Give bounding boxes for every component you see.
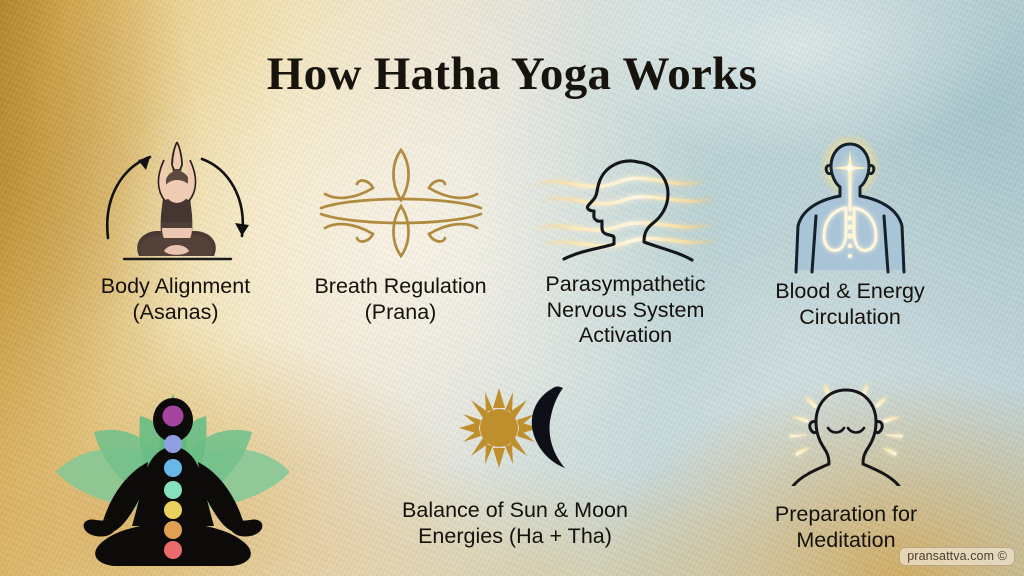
infographic-canvas: How Hatha Yoga Works (0, 0, 1024, 576)
step-card-sun-moon: Balance of Sun & Moon Energies (Ha + Tha… (350, 382, 680, 549)
step-card-meditation: Preparation for Meditation (716, 376, 976, 553)
step-card-blood-energy: Blood & Energy Circulation (740, 130, 960, 330)
step-label-body-alignment: Body Alignment (Asanas) (63, 274, 288, 325)
seated-yoga-pose-icon (86, 138, 266, 268)
watermark-badge: pransattva.com © (899, 547, 1015, 566)
sun-and-crescent-moon-icon (455, 382, 575, 474)
step-card-parasympathetic: Parasympathetic Nervous System Activatio… (513, 138, 738, 349)
step-card-breath-regulation: Breath Regulation (Prana) (288, 138, 513, 325)
step-card-chakra-lotus (38, 360, 308, 575)
step-label-sun-moon: Balance of Sun & Moon Energies (Ha + Tha… (350, 498, 680, 549)
step-label-blood-energy: Blood & Energy Circulation (740, 279, 960, 330)
step-label-meditation: Preparation for Meditation (716, 502, 976, 553)
serene-face-rays-icon (771, 376, 921, 486)
breath-flourish-icon (311, 138, 491, 268)
chakra-lotus-meditator-icon (38, 360, 308, 575)
step-label-parasympathetic: Parasympathetic Nervous System Activatio… (513, 272, 738, 349)
step-label-breath-regulation: Breath Regulation (Prana) (288, 274, 513, 325)
page-title: How Hatha Yoga Works (0, 47, 1024, 101)
torso-lungs-spine-icon (770, 130, 930, 275)
step-card-body-alignment: Body Alignment (Asanas) (63, 138, 288, 325)
head-profile-waves-icon (526, 138, 726, 268)
